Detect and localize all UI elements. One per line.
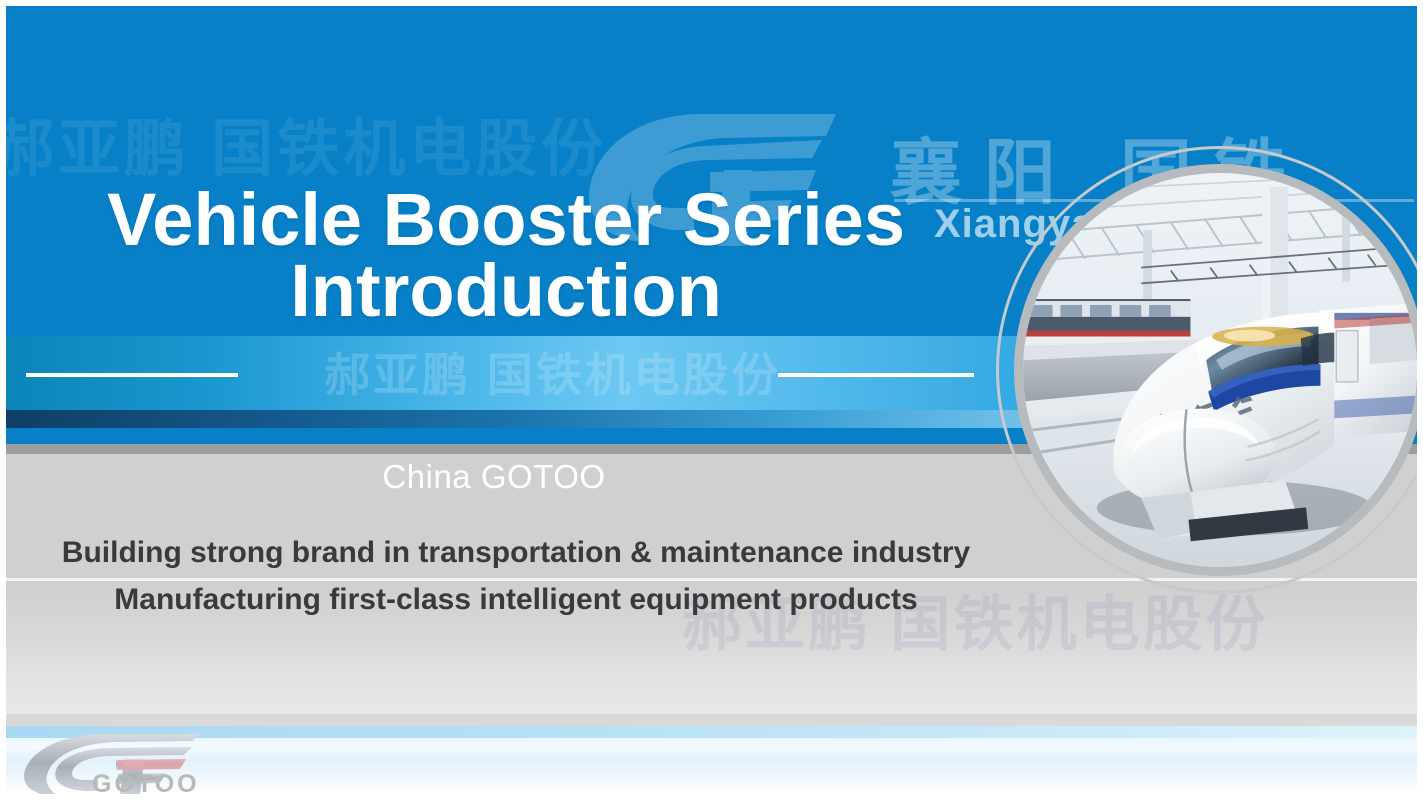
gotoo-wordmark: GOTOO bbox=[92, 770, 200, 794]
page-title: Vehicle Booster Series Introduction bbox=[6, 184, 1006, 326]
reflection-gray-band bbox=[6, 714, 1417, 726]
decorative-rule-left bbox=[26, 373, 238, 377]
train-photo bbox=[1014, 164, 1417, 576]
presentation-slide: 郝亚鹏 国铁机电股份 襄阳 国铁 Xiangyang Vehicle Boost… bbox=[0, 0, 1423, 800]
subtitle: China GOTOO bbox=[6, 458, 982, 496]
tagline-primary: Building strong brand in transportation … bbox=[6, 536, 1026, 570]
reflection-blue-band bbox=[6, 726, 1417, 738]
page-title-line-1: Vehicle Booster Series bbox=[6, 184, 1006, 255]
slide-canvas: 郝亚鹏 国铁机电股份 襄阳 国铁 Xiangyang Vehicle Boost… bbox=[6, 6, 1417, 794]
decorative-rule-right bbox=[778, 373, 974, 377]
watermark-top: 郝亚鹏 国铁机电股份 bbox=[6, 98, 607, 188]
reflection-fade bbox=[6, 738, 1417, 794]
reflection-base bbox=[6, 791, 1417, 794]
tagline-secondary: Manufacturing first-class intelligent eq… bbox=[6, 583, 1026, 617]
train-photo-clip bbox=[1023, 173, 1417, 567]
page-title-line-2: Introduction bbox=[6, 255, 1006, 326]
watermark-middle: 郝亚鹏 国铁机电股份 bbox=[324, 339, 781, 405]
